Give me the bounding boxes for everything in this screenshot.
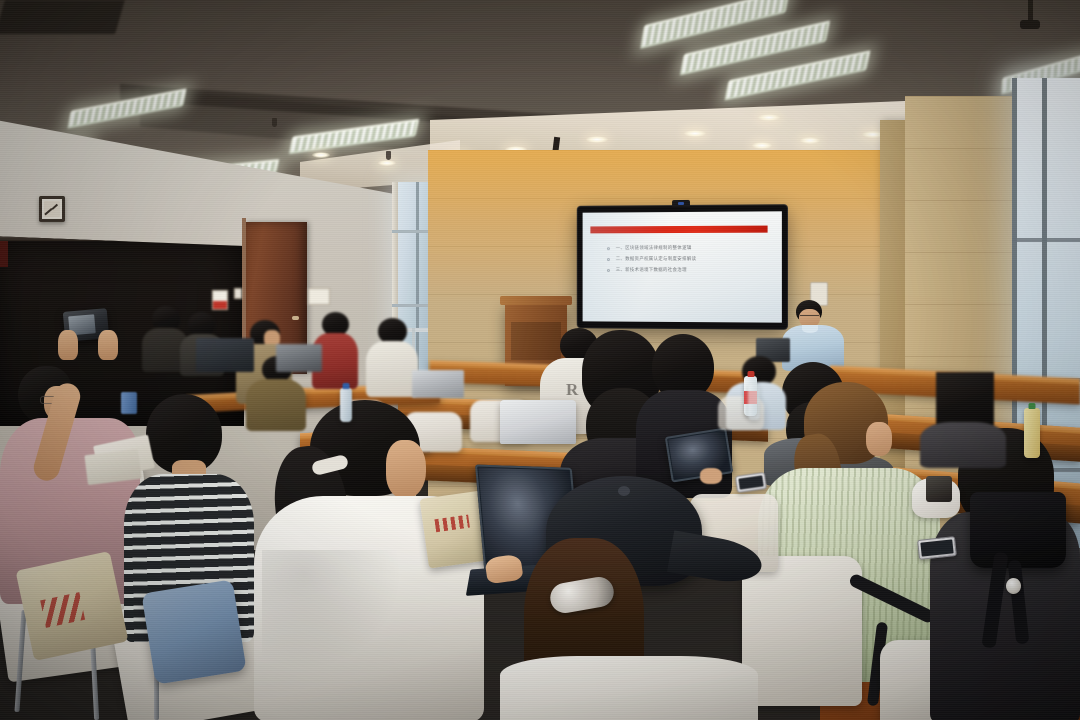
silver-laptop[interactable] — [500, 400, 576, 444]
attendee-white-top — [500, 656, 758, 720]
recessed-downlight — [684, 130, 706, 137]
blackboard-red-edge — [0, 241, 8, 267]
ceiling-mount-head-2 — [1020, 20, 1040, 29]
attendee-shirt — [920, 422, 1006, 468]
attendee-ear-face — [866, 422, 892, 456]
display-screen: 一、区块链领域法律规制的整体逻辑 二、数据资产权属认定与制度安排解读 三、新技术… — [583, 211, 782, 322]
display-camera — [672, 200, 690, 207]
tote-bag-2-logo — [40, 592, 85, 628]
tote-bag-logo — [434, 515, 469, 533]
black-handbag[interactable] — [970, 492, 1066, 568]
ceiling-vent — [0, 0, 125, 34]
white-notice-sign — [308, 288, 330, 305]
attendee-coat-shoulder-shadow — [262, 550, 402, 670]
recessed-downlight — [586, 136, 608, 143]
phone-screen — [738, 475, 763, 489]
tote-bag-2 — [15, 551, 128, 661]
attendee-black-cap — [494, 476, 764, 720]
wall-clock — [39, 196, 65, 222]
denim-jacket — [141, 579, 246, 684]
presenter — [782, 300, 844, 370]
sprinkler-head — [386, 151, 391, 160]
recessed-downlight — [378, 160, 396, 166]
recessed-downlight — [800, 137, 820, 144]
door-handle[interactable] — [292, 316, 299, 320]
recessed-downlight — [312, 152, 330, 158]
photo-scene: 一、区块链领域法律规制的整体逻辑 二、数据资产权属认定与制度安排解读 三、新技术… — [0, 0, 1080, 720]
bottle-cap — [343, 383, 350, 389]
recessed-downlight — [758, 114, 780, 121]
clock-minute-hand — [45, 208, 53, 215]
presenter-collar — [802, 325, 818, 333]
attendee-right-back — [920, 372, 1006, 464]
attendee-back-right-1 — [366, 318, 418, 396]
attendee-shirt — [366, 341, 418, 397]
clock-face — [44, 201, 60, 217]
hand-on-camera-left — [58, 330, 78, 360]
presenter-glasses-icon — [800, 315, 819, 319]
screen-glare — [583, 212, 673, 322]
sprinkler-head — [272, 118, 277, 127]
presentation-display[interactable]: 一、区块链领域法律规制的整体逻辑 二、数据资产权属认定与制度安排解读 三、新技术… — [578, 205, 787, 329]
bottle-cap — [1029, 403, 1036, 409]
attendee-face-side — [386, 440, 426, 498]
window-rail — [1012, 238, 1080, 242]
laptop-mid-back[interactable] — [412, 370, 464, 398]
water-bottle-red-cap-2[interactable] — [748, 384, 760, 420]
phone-screen — [920, 539, 953, 556]
laptop-far-left[interactable] — [196, 338, 254, 372]
lectern-top — [500, 296, 572, 305]
bottle-cap — [747, 371, 754, 377]
tablet-device[interactable] — [665, 427, 733, 482]
bag-charm — [1006, 578, 1021, 594]
blue-cup[interactable] — [121, 392, 137, 414]
ceiling-mount-bracket-2 — [1028, 0, 1033, 22]
light-switch-plate[interactable] — [234, 288, 242, 299]
drink-bottle-green-cap[interactable] — [1024, 408, 1040, 458]
recessed-downlight — [752, 142, 772, 149]
laptop-mid-left[interactable] — [276, 344, 322, 372]
dark-cup[interactable] — [926, 476, 952, 502]
water-bottle-left[interactable] — [340, 388, 352, 422]
smartphone-on-desk[interactable] — [917, 536, 957, 560]
camera-lens-icon — [678, 202, 684, 205]
cap-button-icon — [618, 486, 630, 496]
hand-on-camera-right — [98, 330, 118, 360]
red-emergency-sign — [212, 290, 228, 310]
